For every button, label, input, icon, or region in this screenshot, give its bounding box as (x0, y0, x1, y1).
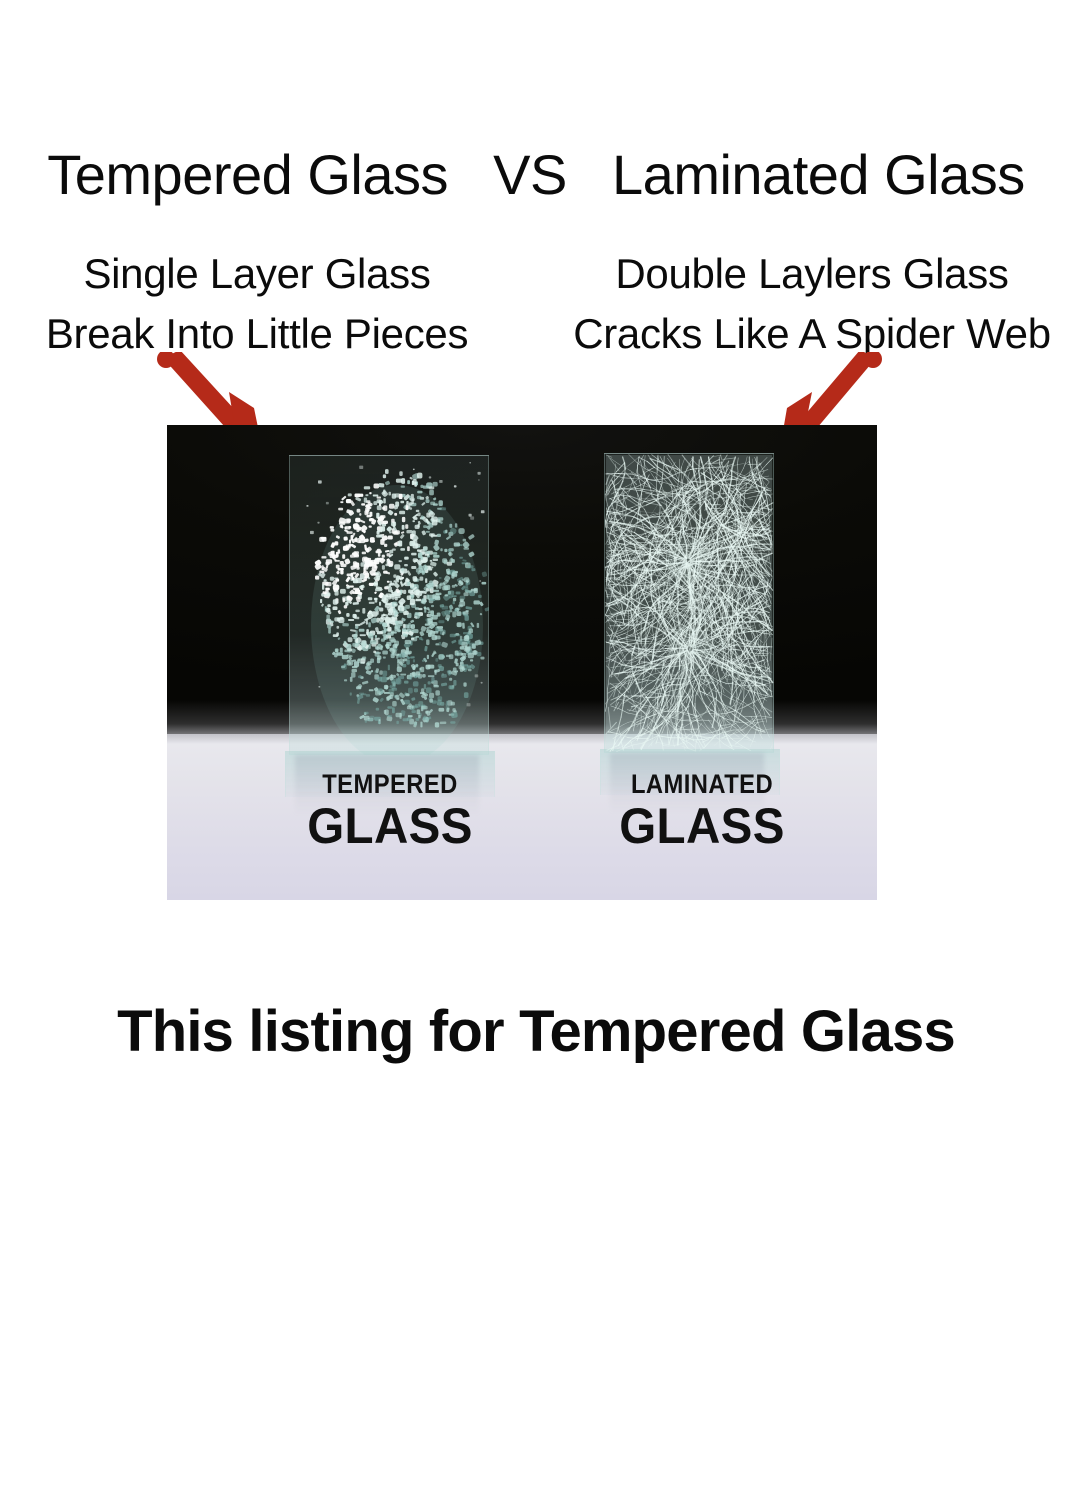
comparison-photo: TEMPERED GLASS LAMINATED GLASS (167, 425, 877, 900)
tempered-fragments-graphic (289, 455, 489, 755)
photo-label-laminated: LAMINATED GLASS (567, 771, 837, 852)
photo-label-tempered: TEMPERED GLASS (255, 771, 525, 852)
caption-column-tempered: Single Layer Glass Break Into Little Pie… (0, 244, 536, 363)
laminated-cracks-graphic (604, 453, 774, 753)
page-title: Tempered Glass VS Laminated Glass (0, 146, 1072, 205)
photo-label-big: GLASS (574, 800, 831, 852)
photo-label-small: LAMINATED (583, 771, 821, 798)
laminated-glass-panel (604, 453, 774, 753)
caption-row: Single Layer Glass Break Into Little Pie… (0, 244, 1072, 363)
tempered-glass-panel (289, 455, 489, 755)
caption-line-1: Double Laylers Glass (552, 244, 1072, 304)
caption-column-laminated: Double Laylers Glass Cracks Like A Spide… (536, 244, 1072, 363)
listing-note: This listing for Tempered Glass (0, 1002, 1072, 1063)
photo-label-small: TEMPERED (271, 771, 509, 798)
caption-line-1: Single Layer Glass (0, 244, 514, 304)
photo-label-big: GLASS (262, 800, 519, 852)
